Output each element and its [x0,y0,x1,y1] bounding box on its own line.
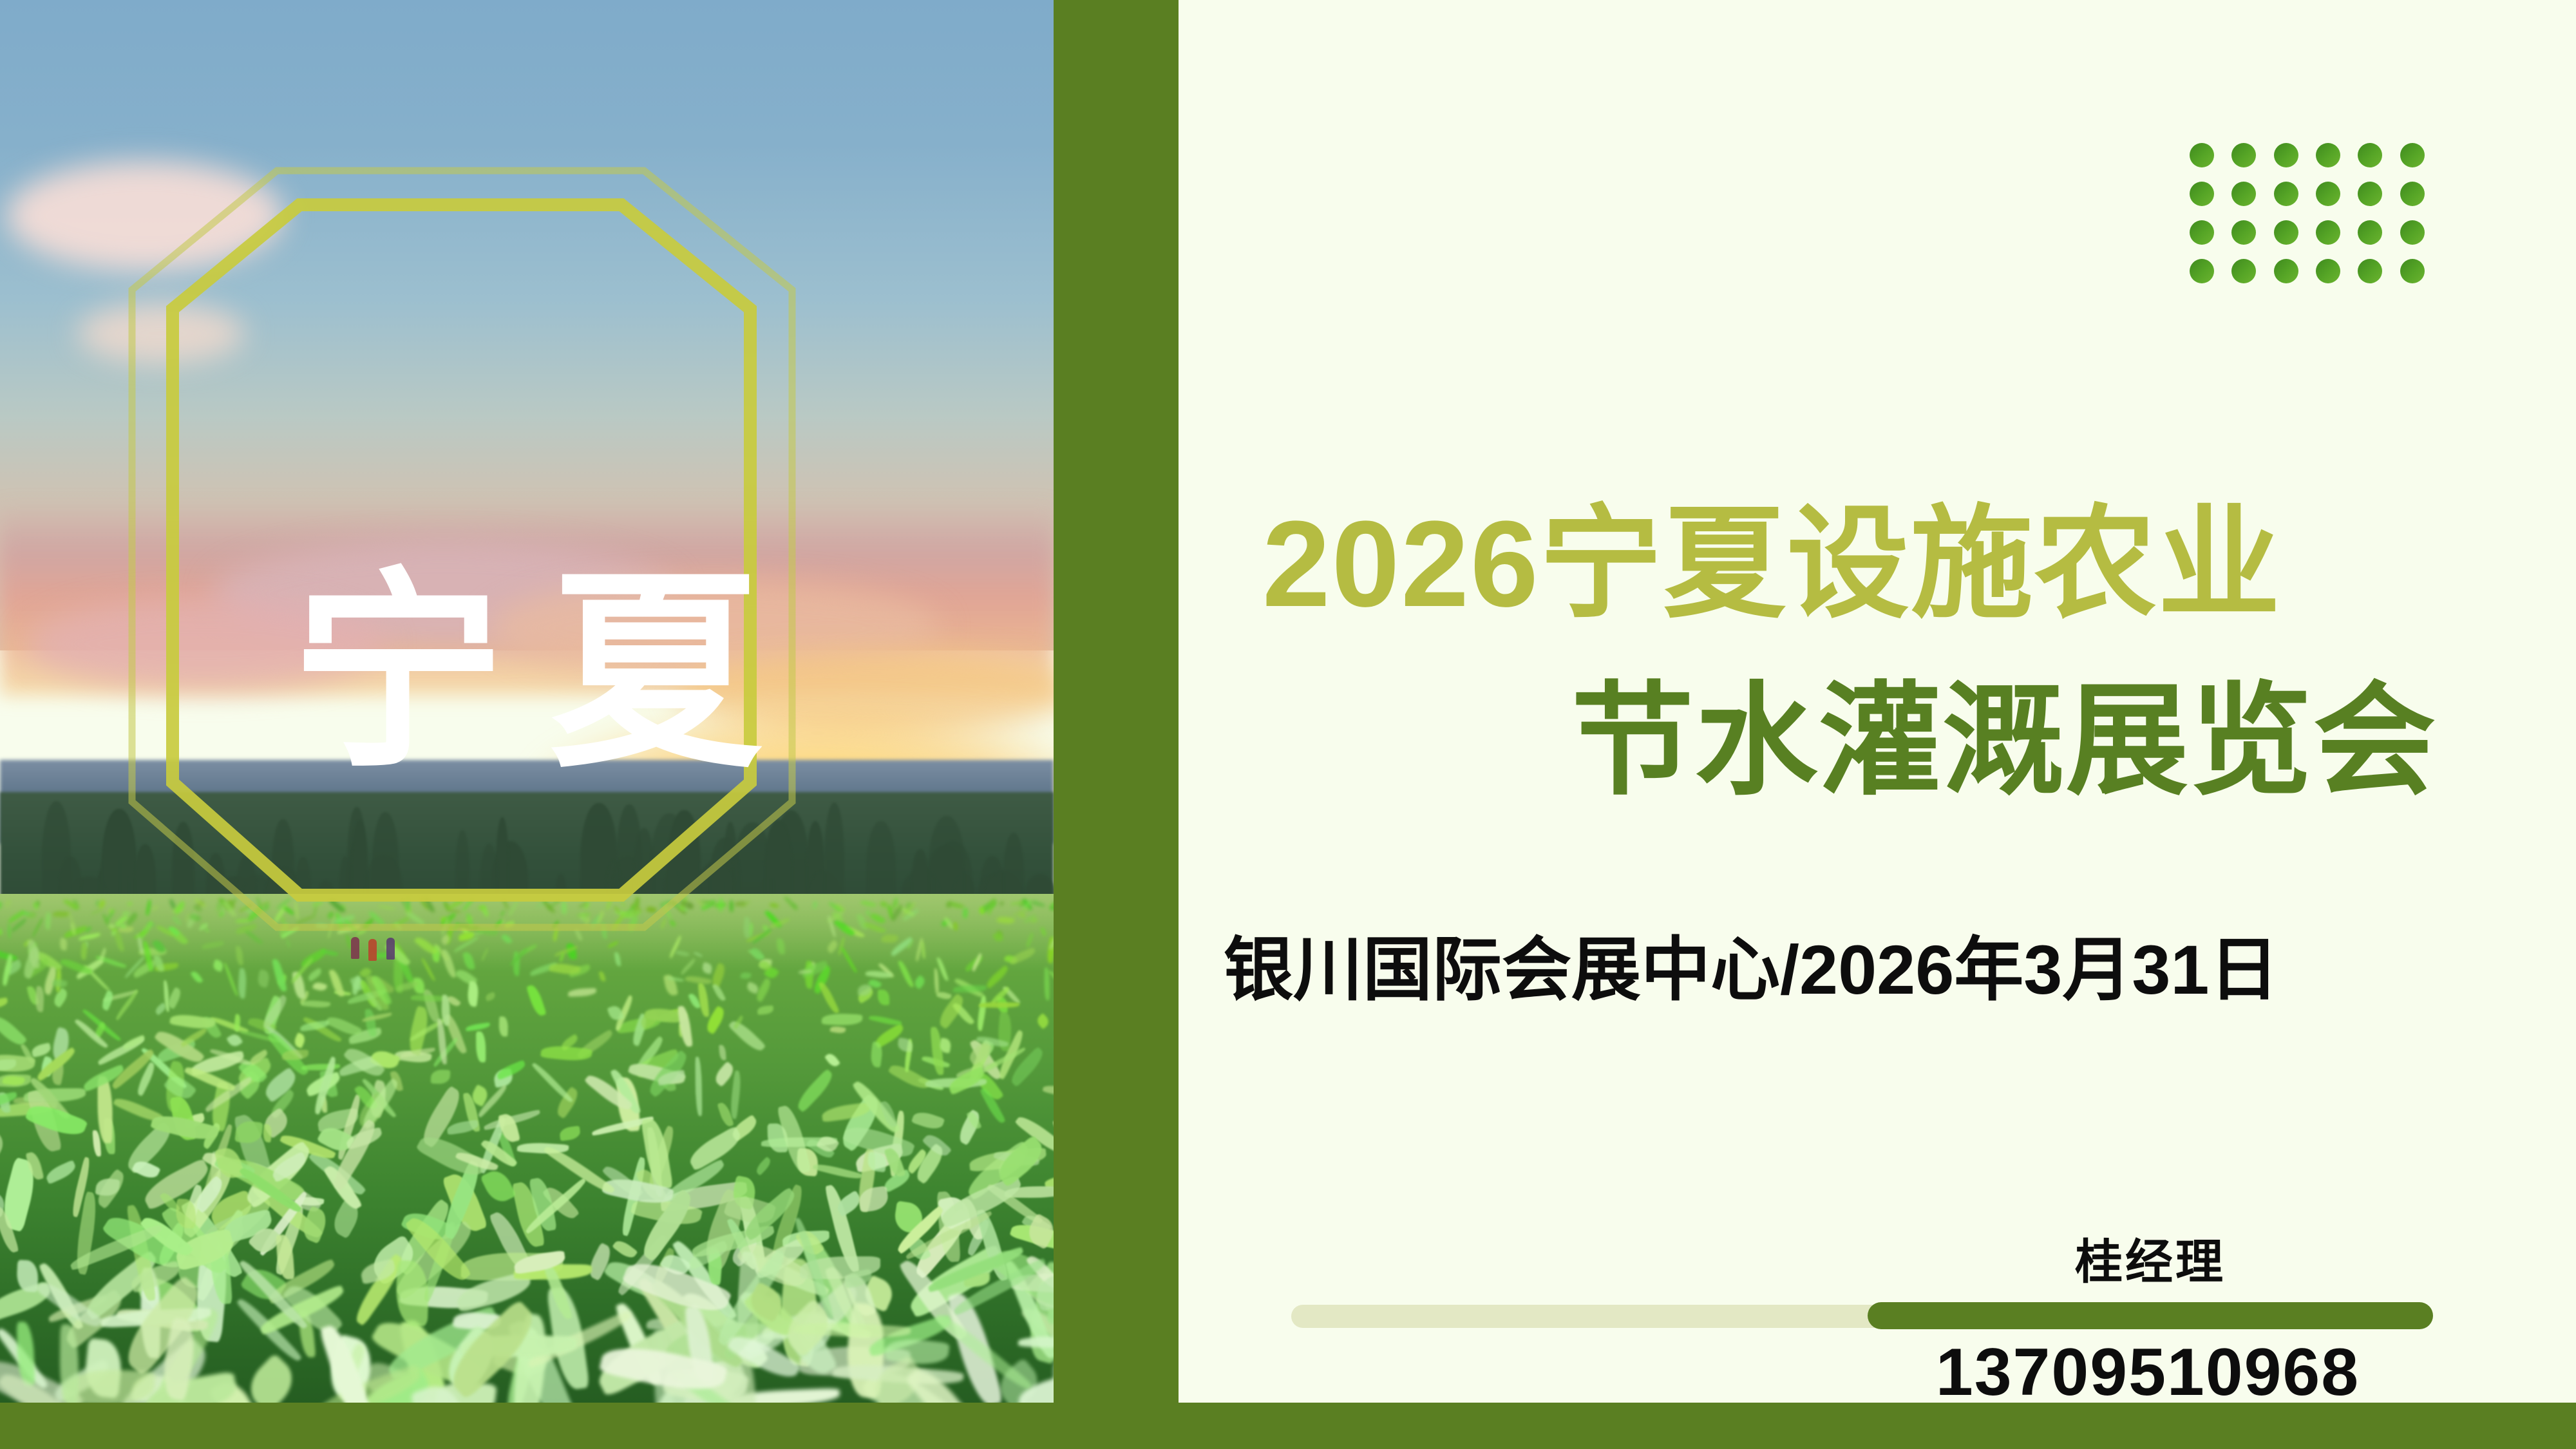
grid-dot [2190,182,2214,206]
grid-dot [2358,143,2382,167]
grid-dot [2316,182,2340,206]
dot-grid-decoration [2190,143,2442,298]
venue-date-subtitle: 银川国际会展中心/2026年3月31日 [1224,932,2278,1009]
headline-line-1: 2026宁夏设施农业 [1262,502,2282,627]
headline-line-2: 节水灌溉展览会 [1571,679,2437,804]
octagon-outer [132,171,792,927]
contact-name: 桂经理 [1868,1224,2433,1293]
grid-dot [2316,259,2340,283]
green-divider-band [1054,0,1179,1403]
photo-overlay-text: 宁夏 [0,567,1054,779]
grid-dot [2358,220,2382,245]
grid-dot [2274,220,2298,245]
grid-dot [2358,259,2382,283]
bottom-green-border [0,1403,2576,1449]
grid-dot [2400,259,2425,283]
grid-dot [2274,143,2298,167]
octagon-inner [173,205,750,895]
grid-dot [2190,143,2214,167]
poster-root: 宁夏 2026宁夏设施农业 节水灌溉展览会 银川国际会展中心/2026年3月31… [0,0,2576,1449]
grid-dot [2400,182,2425,206]
accent-bar-light [1291,1305,1903,1328]
grid-dot [2231,220,2256,245]
grid-dot [2274,259,2298,283]
grid-dot [2316,143,2340,167]
grid-dot [2400,220,2425,245]
grid-dot [2358,182,2382,206]
grid-dot [2274,182,2298,206]
hero-photo: 宁夏 [0,0,1054,1403]
grid-dot [2231,143,2256,167]
grid-dot [2316,220,2340,245]
contact-phone[interactable]: 13709510968 [1848,1334,2447,1411]
grid-dot [2400,143,2425,167]
grid-dot [2190,259,2214,283]
grid-dot [2231,182,2256,206]
grid-dot [2190,220,2214,245]
grid-dot [2231,259,2256,283]
accent-bar-dark [1868,1302,2433,1329]
